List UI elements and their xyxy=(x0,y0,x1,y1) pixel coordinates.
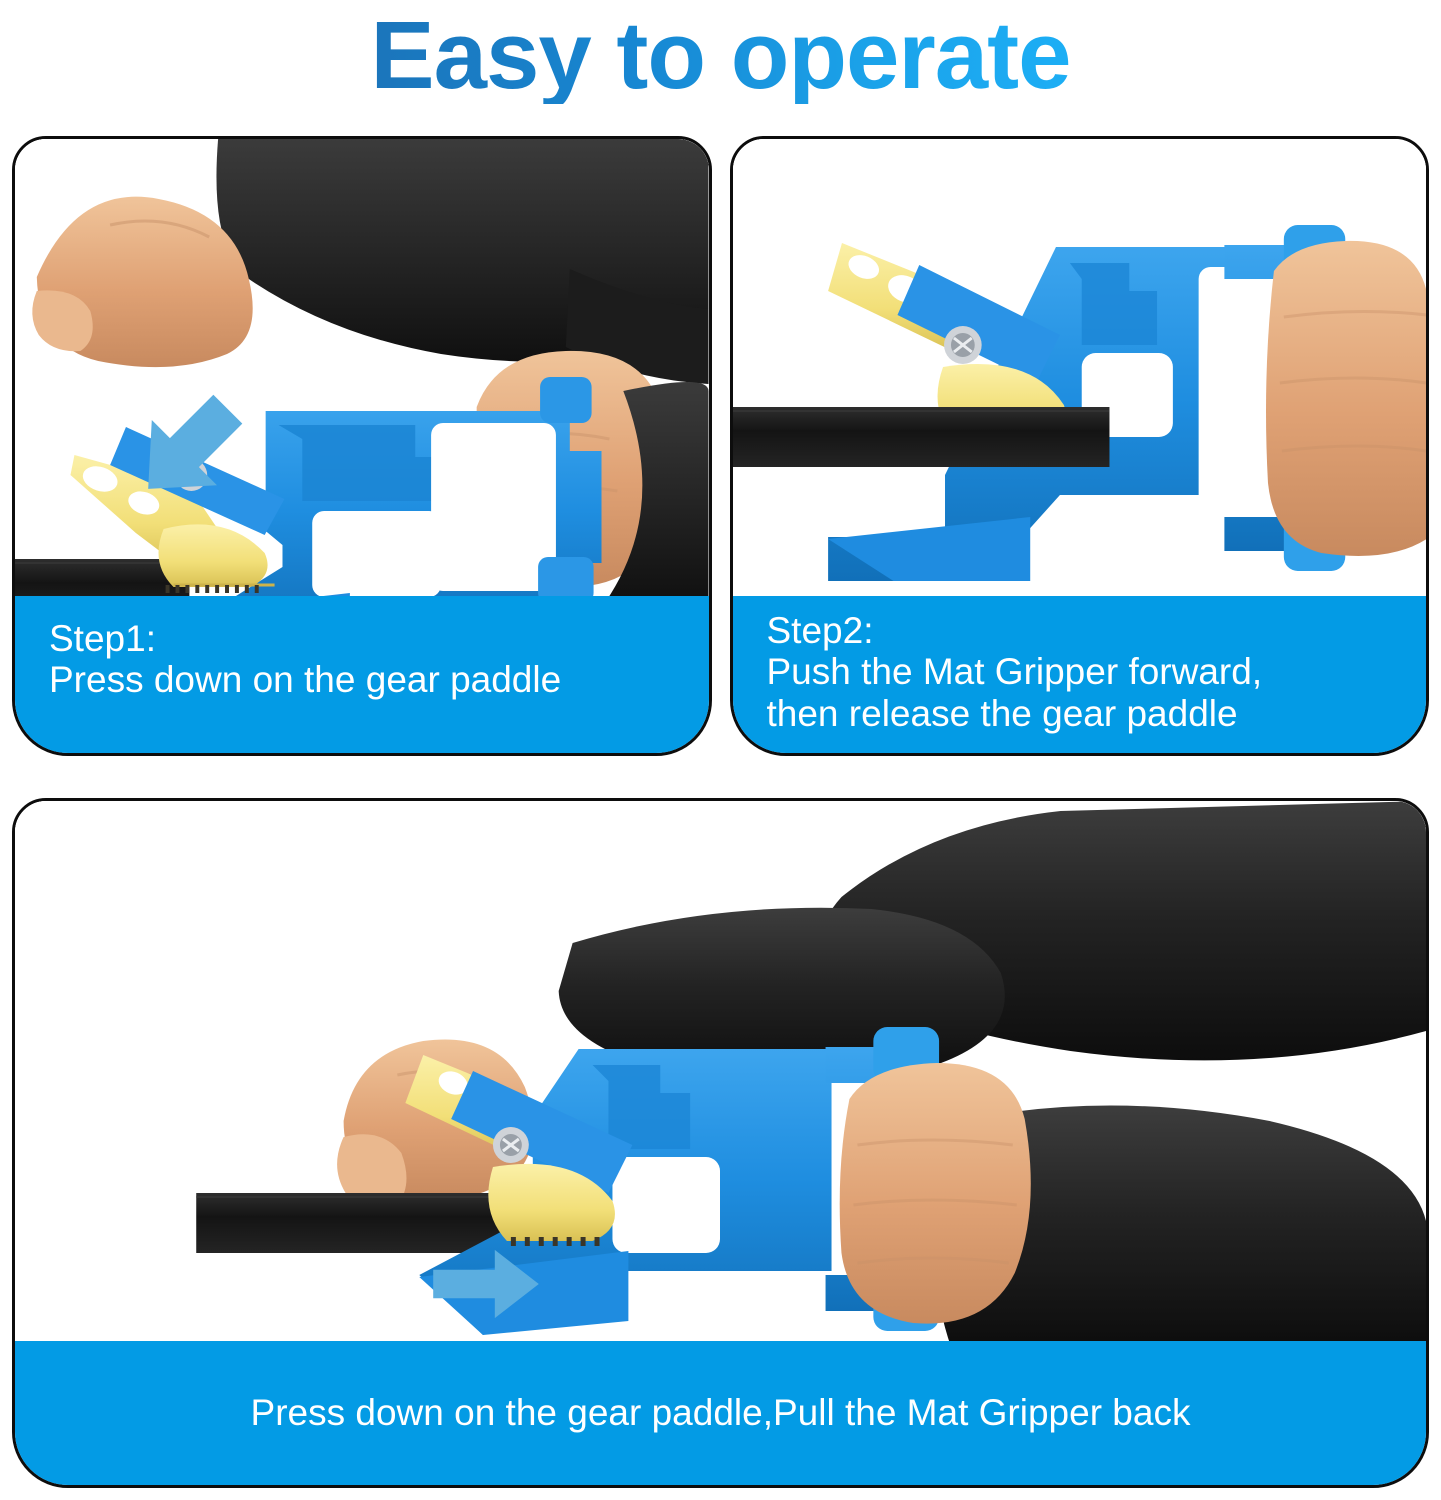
step-1-caption-line-1: Step1: xyxy=(49,618,683,659)
step-3-caption: Press down on the gear paddle,Pull the M… xyxy=(15,1341,1426,1485)
step-panel-2: Step2: Push the Mat Gripper forward, the… xyxy=(730,136,1430,756)
page-title: Easy to operate xyxy=(371,8,1071,104)
step-2-caption: Step2: Push the Mat Gripper forward, the… xyxy=(733,596,1427,753)
mat-gripper-illustration-3 xyxy=(15,801,1426,1347)
step-panel-1: Step1: Press down on the gear paddle xyxy=(12,136,712,756)
step-2-caption-line-2: Push the Mat Gripper forward, xyxy=(767,651,1401,692)
step-2-photo xyxy=(733,139,1427,602)
arrow-down-left-icon xyxy=(123,385,253,513)
step-3-caption-line-1: Press down on the gear paddle,Pull the M… xyxy=(251,1392,1191,1434)
steps-row: Step1: Press down on the gear paddle xyxy=(12,136,1429,756)
step-2-caption-line-1: Step2: xyxy=(767,610,1401,651)
step-3-photo xyxy=(15,801,1426,1347)
mat-gripper-illustration-1 xyxy=(15,139,709,602)
step-1-caption: Step1: Press down on the gear paddle xyxy=(15,596,709,753)
step-panel-3: Press down on the gear paddle,Pull the M… xyxy=(12,798,1429,1488)
step-2-caption-line-3: then release the gear paddle xyxy=(767,693,1401,734)
step-1-photo xyxy=(15,139,709,602)
mat-gripper-illustration-2 xyxy=(733,139,1427,602)
step-1-caption-line-2: Press down on the gear paddle xyxy=(49,659,683,700)
arrow-right-icon xyxy=(431,1245,541,1323)
title-bar: Easy to operate xyxy=(0,0,1441,108)
